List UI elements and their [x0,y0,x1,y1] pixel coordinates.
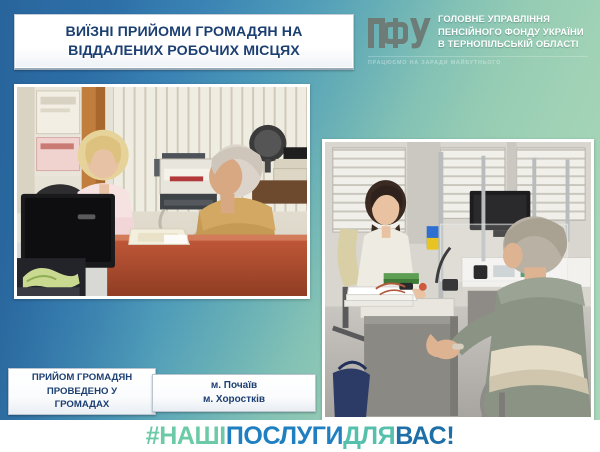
hashtag-part-3: ДЛЯ [343,424,395,449]
hashtag-part-1: #НАШІ [146,424,226,449]
organization-name: ГОЛОВНЕ УПРАВЛІННЯ ПЕНСІЙНОГО ФОНДУ УКРА… [438,10,584,51]
logo-tagline: ПРАЦЮЄМО НА ЗАРАДИ МАЙБУТНЬОГО [368,56,588,66]
hashtag-part-4: ВАС! [395,424,454,449]
hashtag-slogan: #НАШІПОСЛУГИДЛЯВАС! [146,424,455,449]
places-text: м. Почаїв м. Хоростків [203,379,265,408]
title-plaque: ВИЇЗНІ ПРИЙОМИ ГРОМАДЯН НА ВІДДАЛЕНИХ РО… [14,14,354,70]
photo-right [322,139,594,420]
page-title: ВИЇЗНІ ПРИЙОМИ ГРОМАДЯН НА ВІДДАЛЕНИХ РО… [60,23,309,59]
poster-canvas: ВИЇЗНІ ПРИЙОМИ ГРОМАДЯН НА ВІДДАЛЕНИХ РО… [0,0,600,452]
photo-left [14,84,310,299]
organization-logo-block: ГОЛОВНЕ УПРАВЛІННЯ ПЕНСІЙНОГО ФОНДУ УКРА… [366,10,592,76]
hashtag-part-2: ПОСЛУГИ [226,424,343,449]
places-plaque: м. Почаїв м. Хоростків [152,374,316,412]
caption-text: ПРИЙОМ ГРОМАДЯН ПРОВЕДЕНО У ГРОМАДАХ [32,371,132,412]
caption-plaque: ПРИЙОМ ГРОМАДЯН ПРОВЕДЕНО У ГРОМАДАХ [8,368,156,415]
footer-bar: #НАШІПОСЛУГИДЛЯВАС! [0,420,600,452]
pfu-logo-icon [366,10,432,54]
